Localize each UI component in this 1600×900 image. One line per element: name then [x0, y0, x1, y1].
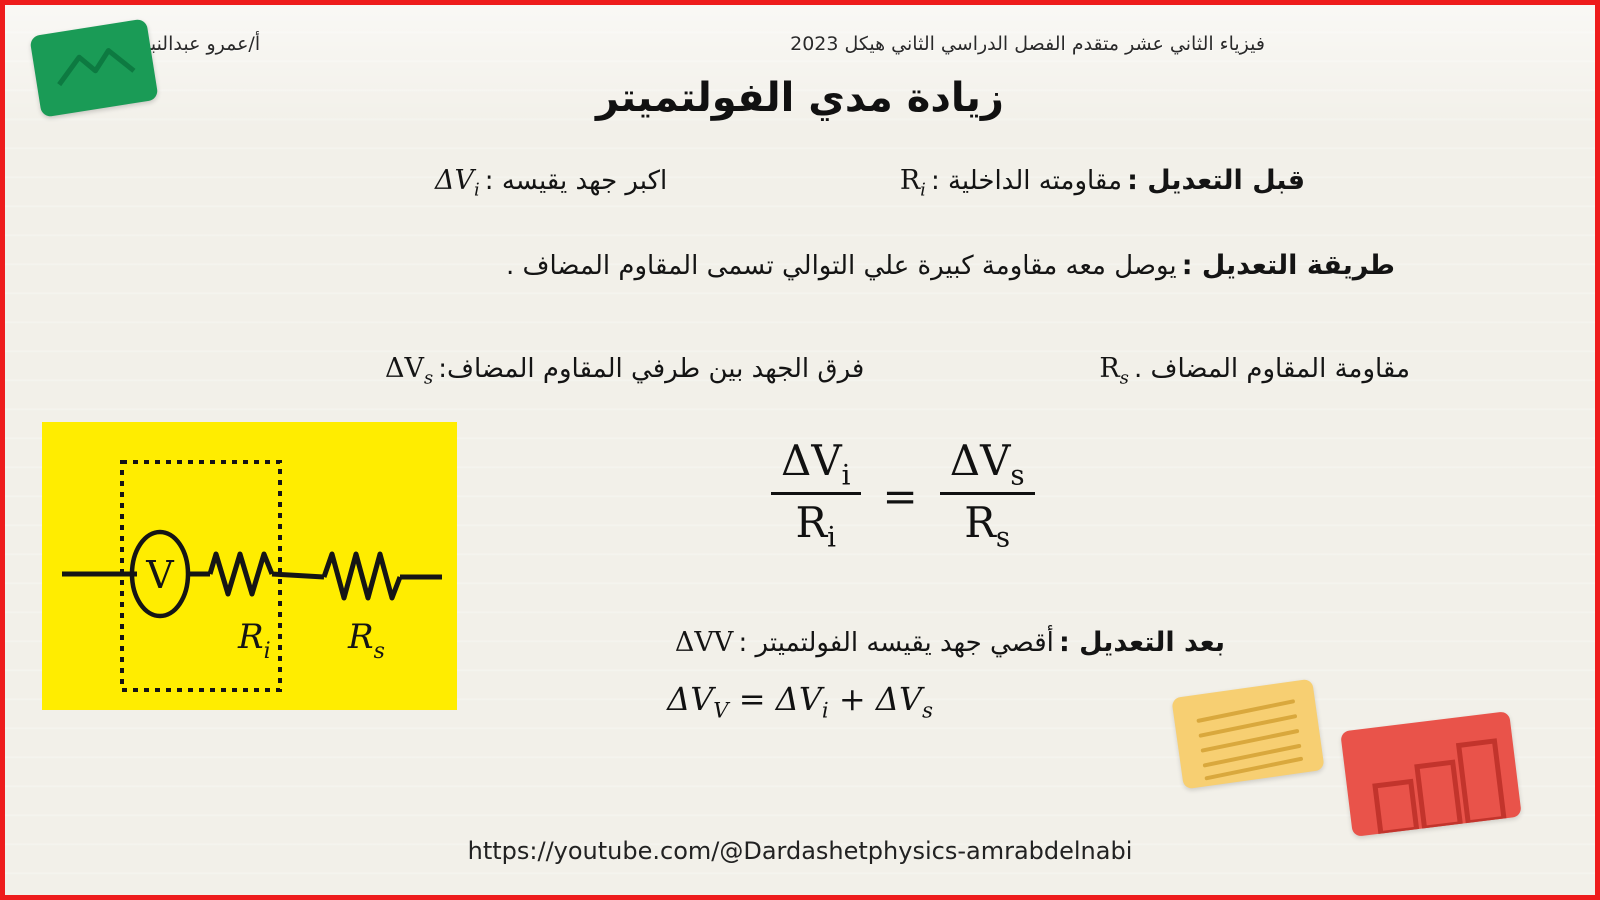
fraction-right-numerator: ΔVs — [940, 437, 1035, 492]
header-course-title: فيزياء الثاني عشر متقدم الفصل الدراسي ال… — [790, 33, 1265, 55]
added-resistance-symbol: Rs — [1099, 353, 1129, 388]
slide-header: فيزياء الثاني عشر متقدم الفصل الدراسي ال… — [125, 27, 1265, 61]
bar-chart-card-icon — [1340, 711, 1522, 837]
document-card-icon — [1171, 679, 1324, 790]
fraction-left-denominator: Ri — [786, 495, 847, 552]
fraction-right-denominator: Rs — [954, 495, 1020, 552]
fraction-left-numerator: ΔVi — [771, 437, 861, 492]
sum-equation-text: ΔVV = ΔVi + ΔVs — [667, 680, 933, 718]
internal-resistance-text: مقاومته الداخلية : — [931, 166, 1122, 196]
equals-sign: = — [883, 468, 918, 521]
footer-channel-url[interactable]: https://youtube.com/@Dardashetphysics-am… — [5, 837, 1595, 865]
fraction-right: ΔVs Rs — [940, 437, 1035, 553]
internal-resistance-symbol: Ri — [900, 165, 926, 200]
slide-canvas: فيزياء الثاني عشر متقدم الفصل الدراسي ال… — [0, 0, 1600, 900]
after-modification-symbol: ΔVV — [675, 627, 734, 658]
method-line: طريقة التعديل : يوصل معه مقاومة كبيرة عل… — [506, 250, 1395, 281]
internal-resistor-label: Ri — [237, 617, 271, 664]
added-resistance-text: مقاومة المقاوم المضاف . — [1134, 354, 1410, 384]
voltmeter-label: V — [145, 553, 174, 597]
max-voltage-text: اكبر جهد يقيسه : — [485, 166, 667, 196]
ratio-equation: ΔVi Ri = ΔVs Rs — [765, 437, 1041, 553]
added-resistor-symbol — [324, 554, 400, 598]
added-voltage-text: فرق الجهد بين طرفي المقاوم المضاف: — [438, 354, 864, 384]
zigzag-line-icon — [55, 47, 134, 85]
after-modification-label: بعد التعديل : — [1059, 627, 1225, 658]
added-resistor-label: Rs — [347, 617, 385, 664]
before-modification-line: قبل التعديل : مقاومته الداخلية : Ri اكبر… — [435, 165, 1305, 200]
circuit-diagram-figure: V Ri Rs — [42, 422, 457, 710]
fraction-left: ΔVi Ri — [771, 437, 861, 553]
after-modification-line: بعد التعديل : أقصي جهد يقيسه الفولتميتر … — [675, 627, 1225, 658]
bar-chart-bars-icon — [1371, 741, 1504, 834]
added-voltage-group: فرق الجهد بين طرفي المقاوم المضاف: ΔVs — [385, 353, 864, 388]
before-modification-group: قبل التعديل : مقاومته الداخلية : Ri — [900, 165, 1305, 200]
added-resistance-group: مقاومة المقاوم المضاف . Rs — [1099, 353, 1410, 388]
added-resistor-line: مقاومة المقاوم المضاف . Rs فرق الجهد بين… — [385, 353, 1410, 388]
method-label: طريقة التعديل : — [1182, 250, 1395, 281]
added-voltage-symbol: ΔVs — [385, 353, 433, 388]
max-voltage-group: اكبر جهد يقيسه : ΔVi — [435, 165, 667, 200]
before-modification-label: قبل التعديل : — [1127, 165, 1305, 196]
internal-resistor-symbol — [210, 554, 272, 594]
wire-ri-to-rs — [272, 574, 324, 577]
after-modification-text: أقصي جهد يقيسه الفولتميتر : — [739, 628, 1054, 658]
method-text: يوصل معه مقاومة كبيرة علي التوالي تسمى ا… — [506, 251, 1177, 281]
circuit-diagram-svg: V Ri Rs — [42, 422, 457, 710]
document-lines-icon — [1198, 701, 1302, 778]
max-voltage-symbol: ΔVi — [435, 165, 480, 200]
page-title: زيادة مدي الفولتميتر — [5, 75, 1595, 121]
header-author-name: أ/عمرو عبدالنبي — [135, 33, 260, 55]
